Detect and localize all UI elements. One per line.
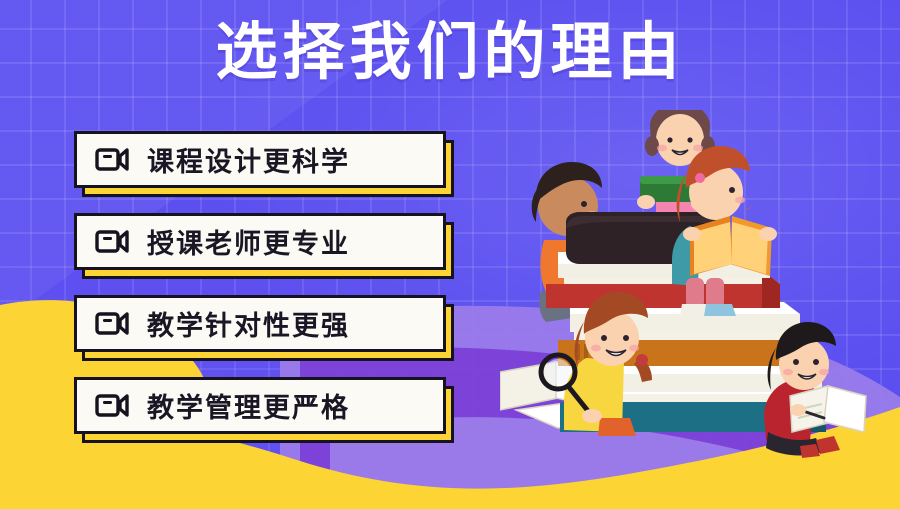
feature-label: 教学管理更严格 [147,386,350,425]
feature-item-3[interactable]: 教学针对性更强 [74,295,446,352]
feature-label: 教学针对性更强 [147,304,350,343]
feature-card[interactable]: 教学针对性更强 [74,295,446,352]
boy-writing-notebook [764,322,866,458]
hair-clip-icon [695,173,705,183]
feature-label: 授课老师更专业 [147,222,350,261]
children-book-stack-illustration [500,110,900,460]
feature-card[interactable]: 教学管理更严格 [74,377,446,434]
feature-card[interactable]: 授课老师更专业 [74,213,446,270]
video-camera-icon [95,229,129,254]
feature-label: 课程设计更科学 [147,140,350,179]
feature-item-2[interactable]: 授课老师更专业 [74,213,446,270]
video-camera-icon [95,393,129,418]
page-title: 选择我们的理由 [0,20,900,87]
feature-list: 课程设计更科学 授课老师更专业 教学 [74,131,446,459]
feature-item-1[interactable]: 课程设计更科学 [74,131,446,188]
video-camera-icon [95,147,129,172]
feature-item-4[interactable]: 教学管理更严格 [74,377,446,434]
hair-tie-icon [636,354,648,366]
promo-poster: 选择我们的理由 课程设计更科学 授课老师更专业 [0,0,900,509]
video-camera-icon [95,311,129,336]
feature-card[interactable]: 课程设计更科学 [74,131,446,188]
